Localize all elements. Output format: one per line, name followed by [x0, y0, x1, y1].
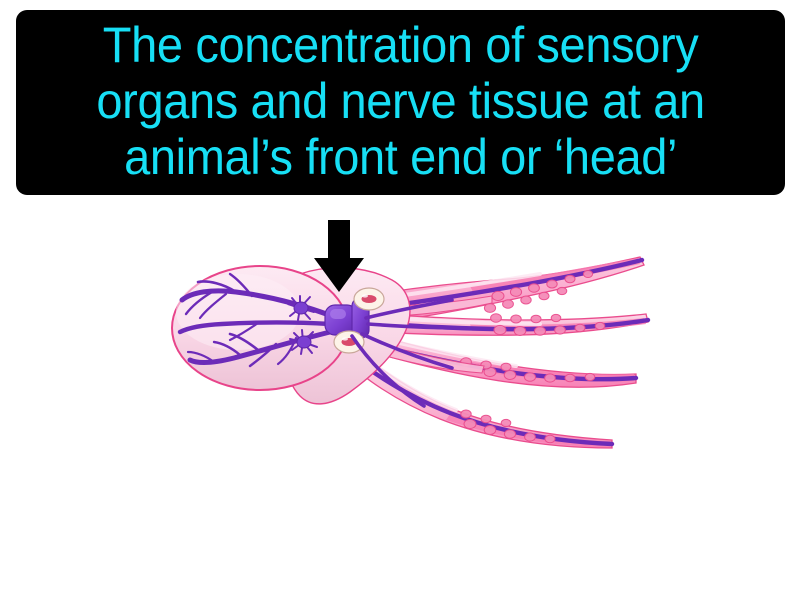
- squid-illustration: [0, 200, 800, 600]
- eye-upper: [354, 288, 384, 310]
- squid-diagram: [0, 200, 800, 600]
- definition-box: The concentration of sensory organs and …: [16, 10, 785, 195]
- eye-lower: [334, 331, 364, 353]
- definition-card: The concentration of sensory organs and …: [0, 0, 800, 600]
- definition-text: The concentration of sensory organs and …: [96, 17, 704, 185]
